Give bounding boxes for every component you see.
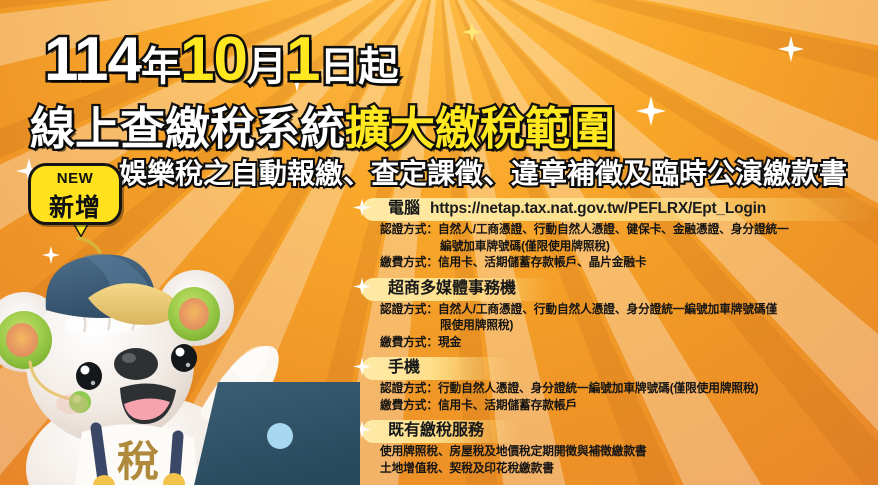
existing-service-line-1: 使用牌照稅、房屋稅及地價稅定期開徵與補徵繳款書 (380, 445, 878, 460)
badge-cjk-label: 新增 (28, 188, 122, 224)
mascot-headphone-right (168, 287, 220, 341)
section-title-kiosk: 超商多媒體事務機 (388, 280, 516, 297)
mascot-apron: 稅 (74, 424, 198, 485)
headline-month-number: 10 (180, 25, 247, 94)
headline-month-char: 月 (247, 45, 286, 89)
section-mobile: 手機 認證方式：行動自然人憑證、身分證統一編號加車牌號碼(僅限使用牌照稅) 繳費… (362, 357, 878, 413)
headline-day-suffix: 日起 (319, 45, 397, 89)
sparkle-icon (353, 198, 371, 221)
badge-new-label: NEW (28, 170, 122, 187)
section-kiosk: 超商多媒體事務機 認證方式：自然人/工商憑證、行動自然人憑證、身分證統一編號加車… (362, 278, 878, 351)
apron-tax-char: 稅 (117, 437, 159, 485)
section-header-mobile: 手機 (362, 357, 512, 380)
computer-auth-line-2: 編號加車牌號碼(僅限使用牌照稅) (440, 240, 878, 255)
headline-year-char: 年 (141, 45, 180, 89)
laptop (192, 382, 360, 485)
section-title-existing: 既有繳稅服務 (388, 422, 484, 439)
computer-payment-line: 繳費方式：信用卡、活期儲蓄存款帳戶、晶片金融卡 (380, 256, 878, 271)
new-badge: NEW 新增 (28, 163, 122, 225)
mascot-cheek (56, 394, 88, 414)
kiosk-payment-line: 繳費方式：現金 (380, 336, 878, 351)
headline-detail-line: 娛樂稅之自動報繳、查定課徵、違章補徵及臨時公演繳款書 (119, 160, 847, 188)
section-header-existing: 既有繳稅服務 (362, 420, 520, 443)
headline-scope-text: 娛樂稅之自動報繳、查定課徵、違章補徵及臨時公演繳款書 (119, 158, 847, 189)
headline-expansion-text: 擴大繳稅範圍 (345, 103, 615, 154)
section-title-mobile: 手機 (388, 359, 420, 376)
headline-subject-line: 線上查繳稅系統擴大繳稅範圍 (30, 106, 615, 151)
existing-service-line-2: 土地增值稅、契稅及印花稅繳款書 (380, 462, 878, 477)
section-header-computer: 電腦https://netap.tax.nat.gov.tw/PEFLRX/Ep… (362, 198, 878, 221)
section-existing: 既有繳稅服務 使用牌照稅、房屋稅及地價稅定期開徵與補徵繳款書 土地增值稅、契稅及… (362, 420, 878, 476)
tax-portal-url[interactable]: https://netap.tax.nat.gov.tw/PEFLRX/Ept_… (430, 200, 766, 217)
headline-day-number: 1 (286, 25, 319, 94)
headline-date-line: 114年10月1日起 (44, 29, 397, 91)
headline-system-name: 線上查繳稅系統 (30, 103, 345, 154)
computer-auth-line-1: 認證方式：自然人/工商憑證、行動自然人憑證、健保卡、金融憑證、身分證統一 (380, 223, 878, 238)
info-sections: 電腦https://netap.tax.nat.gov.tw/PEFLRX/Ep… (362, 198, 878, 483)
kiosk-auth-line-2: 限使用牌照稅) (440, 319, 878, 334)
mobile-payment-line: 繳費方式：信用卡、活期儲蓄存款帳戶 (380, 399, 878, 414)
section-header-kiosk: 超商多媒體事務機 (362, 278, 552, 301)
mascot-nose (114, 348, 158, 380)
kiosk-auth-line-1: 認證方式：自然人/工商憑證、行動自然人憑證、身分證統一編號加車牌號碼僅 (380, 303, 878, 318)
mascot-cap (46, 238, 179, 325)
bear-mascot: 稅 (0, 236, 360, 485)
section-computer: 電腦https://netap.tax.nat.gov.tw/PEFLRX/Ep… (362, 198, 878, 271)
mobile-auth-line: 認證方式：行動自然人憑證、身分證統一編號加車牌號碼(僅限使用牌照稅) (380, 382, 878, 397)
headline-year-number: 114 (44, 25, 141, 94)
section-title-computer: 電腦 (388, 200, 420, 217)
poster-canvas: 114年10月1日起 線上查繳稅系統擴大繳稅範圍 娛樂稅之自動報繳、查定課徵、違… (0, 0, 878, 485)
